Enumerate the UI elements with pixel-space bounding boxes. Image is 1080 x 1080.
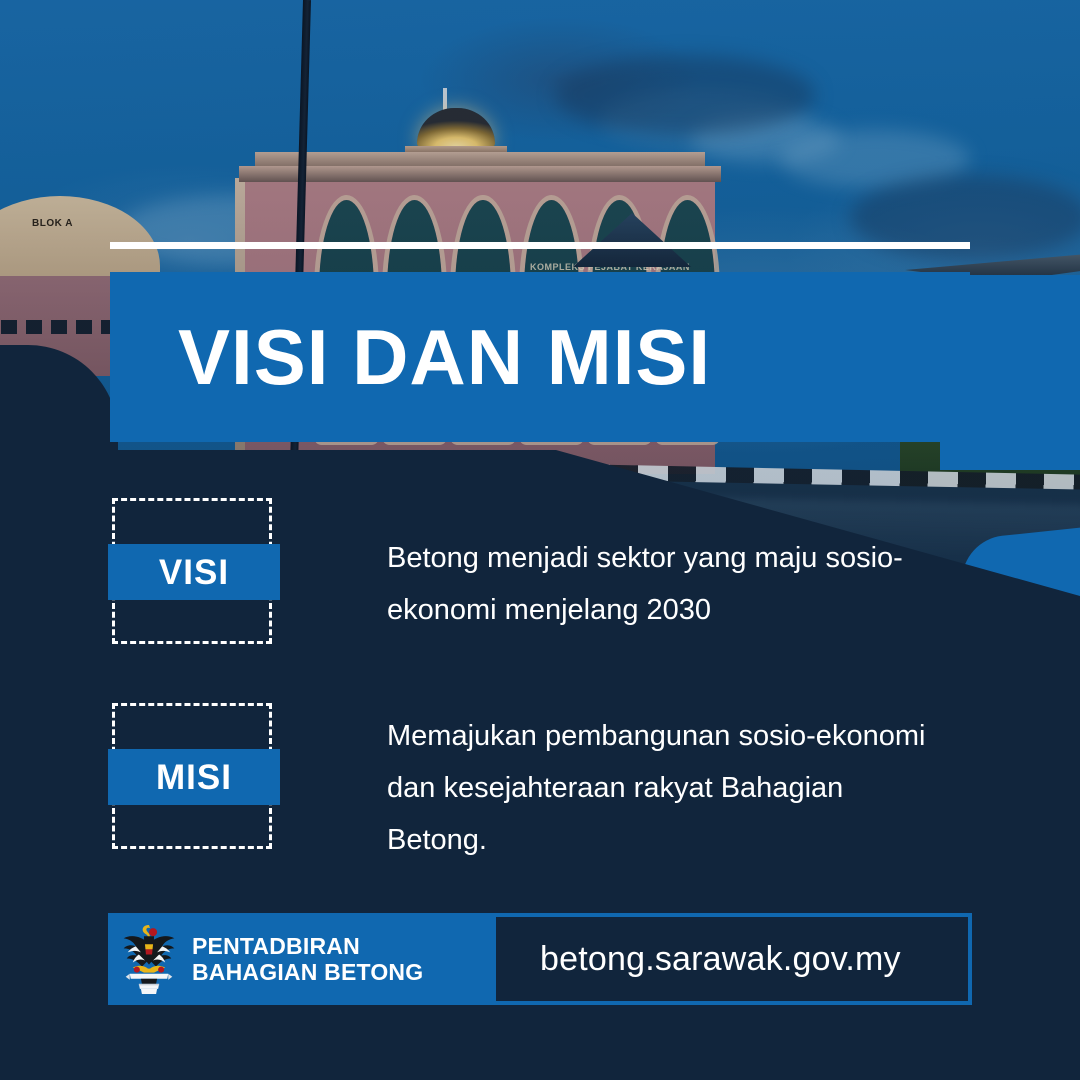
footer-url-text: betong.sarawak.gov.my xyxy=(540,940,901,979)
sarawak-coat-of-arms-icon xyxy=(118,921,180,997)
title-banner: VISI DAN MISI xyxy=(110,272,970,442)
visi-tag-label: VISI xyxy=(159,555,229,590)
section-misi: MISI Memajukan pembangunan sosio-ekonomi… xyxy=(108,703,947,866)
footer-brand-line1: PENTADBIRAN xyxy=(192,933,423,959)
footer-brand-line2: BAHAGIAN BETONG xyxy=(192,959,423,985)
page-title: VISI DAN MISI xyxy=(110,318,711,396)
footer-url-box[interactable]: betong.sarawak.gov.my xyxy=(492,913,972,1005)
footer-bar: PENTADBIRAN BAHAGIAN BETONG betong.saraw… xyxy=(108,913,972,1005)
footer-brand-block: PENTADBIRAN BAHAGIAN BETONG xyxy=(108,913,492,1005)
section-visi: VISI Betong menjadi sektor yang maju sos… xyxy=(108,498,947,650)
misi-body-text: Memajukan pembangunan sosio-ekonomi dan … xyxy=(387,703,947,866)
footer-brand-text: PENTADBIRAN BAHAGIAN BETONG xyxy=(192,933,423,985)
misi-tag-label: MISI xyxy=(156,760,232,795)
misi-tag-frame: MISI xyxy=(108,703,280,855)
header-rule xyxy=(110,242,970,249)
misi-tag-bar: MISI xyxy=(108,749,280,805)
visi-tag-frame: VISI xyxy=(108,498,280,650)
visi-tag-bar: VISI xyxy=(108,544,280,600)
visi-body-text: Betong menjadi sektor yang maju sosio-ek… xyxy=(387,498,947,636)
poster-canvas: BLOK A KOMPLEKS PEJABAT KERAJAAN xyxy=(0,0,1080,1080)
